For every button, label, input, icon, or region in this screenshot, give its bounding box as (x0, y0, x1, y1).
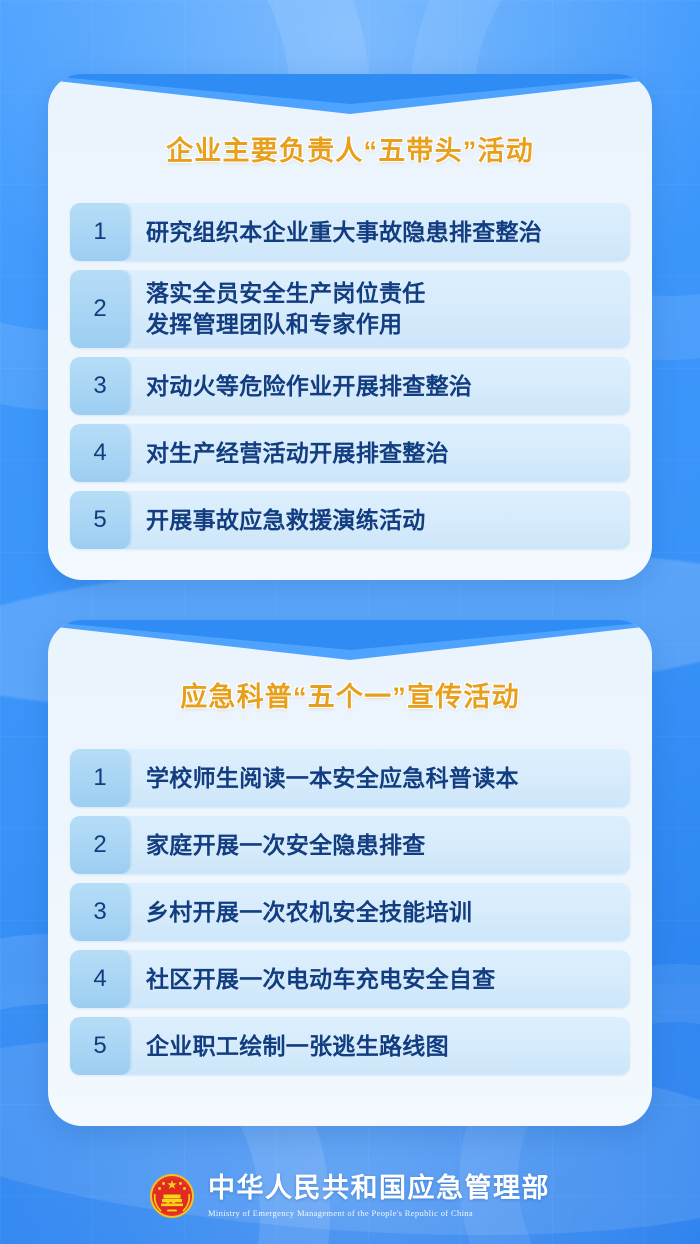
item-text: 乡村开展一次农机安全技能培训 (130, 883, 630, 941)
footer-branding: 中华人民共和国应急管理部 Ministry of Emergency Manag… (0, 1174, 700, 1218)
item-number: 1 (70, 203, 130, 261)
item-text: 企业职工绘制一张逃生路线图 (130, 1017, 630, 1075)
item-text-line: 学校师生阅读一本安全应急科普读本 (146, 763, 620, 793)
list-item[interactable]: 1 研究组织本企业重大事故隐患排查整治 (70, 203, 630, 261)
item-text-line: 开展事故应急救援演练活动 (146, 505, 620, 535)
item-text: 研究组织本企业重大事故隐患排查整治 (130, 203, 630, 261)
item-text-line: 落实全员安全生产岗位责任 (146, 278, 620, 308)
item-number: 5 (70, 491, 130, 549)
organization-name-cn: 中华人民共和国应急管理部 (208, 1174, 550, 1204)
list-item[interactable]: 3 对动火等危险作业开展排查整治 (70, 357, 630, 415)
card-title: 应急科普“五个一”宣传活动 (48, 642, 652, 724)
list-item[interactable]: 2 落实全员安全生产岗位责任 发挥管理团队和专家作用 (70, 270, 630, 348)
item-text-line: 企业职工绘制一张逃生路线图 (146, 1031, 620, 1061)
list-item[interactable]: 2 家庭开展一次安全隐患排查 (70, 816, 630, 874)
item-text: 家庭开展一次安全隐患排查 (130, 816, 630, 874)
activity-list: 1 研究组织本企业重大事故隐患排查整治 2 落实全员安全生产岗位责任 发挥管理团… (48, 201, 652, 549)
list-item[interactable]: 4 对生产经营活动开展排查整治 (70, 424, 630, 482)
item-text: 学校师生阅读一本安全应急科普读本 (130, 749, 630, 807)
item-text-line: 对生产经营活动开展排查整治 (146, 438, 620, 468)
poster-root: 企业主要负责人“五带头”活动 1 研究组织本企业重大事故隐患排查整治 2 落实全… (0, 0, 700, 1244)
footer-text-group: 中华人民共和国应急管理部 Ministry of Emergency Manag… (208, 1174, 550, 1218)
organization-name-en: Ministry of Emergency Management of the … (208, 1208, 550, 1218)
item-text-line: 家庭开展一次安全隐患排查 (146, 830, 620, 860)
item-number: 4 (70, 950, 130, 1008)
card-title: 企业主要负责人“五带头”活动 (48, 96, 652, 178)
item-number: 4 (70, 424, 130, 482)
activity-card-emergency-science: 应急科普“五个一”宣传活动 1 学校师生阅读一本安全应急科普读本 2 家庭开展一… (48, 620, 652, 1126)
item-text-line: 社区开展一次电动车充电安全自查 (146, 964, 620, 994)
item-text: 对生产经营活动开展排查整治 (130, 424, 630, 482)
item-number: 3 (70, 883, 130, 941)
item-text-line: 研究组织本企业重大事故隐患排查整治 (146, 217, 620, 247)
china-national-emblem-icon (150, 1174, 194, 1218)
list-item[interactable]: 5 企业职工绘制一张逃生路线图 (70, 1017, 630, 1075)
list-item[interactable]: 5 开展事故应急救援演练活动 (70, 491, 630, 549)
item-text: 社区开展一次电动车充电安全自查 (130, 950, 630, 1008)
item-text-line: 发挥管理团队和专家作用 (146, 309, 620, 339)
item-text: 开展事故应急救援演练活动 (130, 491, 630, 549)
item-number: 1 (70, 749, 130, 807)
item-number: 2 (70, 816, 130, 874)
item-text-line: 乡村开展一次农机安全技能培训 (146, 897, 620, 927)
item-number: 5 (70, 1017, 130, 1075)
list-item[interactable]: 3 乡村开展一次农机安全技能培训 (70, 883, 630, 941)
item-text-line: 对动火等危险作业开展排查整治 (146, 371, 620, 401)
activity-card-enterprise-leaders: 企业主要负责人“五带头”活动 1 研究组织本企业重大事故隐患排查整治 2 落实全… (48, 74, 652, 580)
item-text: 落实全员安全生产岗位责任 发挥管理团队和专家作用 (130, 270, 630, 348)
item-text: 对动火等危险作业开展排查整治 (130, 357, 630, 415)
list-item[interactable]: 1 学校师生阅读一本安全应急科普读本 (70, 749, 630, 807)
activity-list: 1 学校师生阅读一本安全应急科普读本 2 家庭开展一次安全隐患排查 3 乡村开展… (48, 747, 652, 1075)
list-item[interactable]: 4 社区开展一次电动车充电安全自查 (70, 950, 630, 1008)
item-number: 2 (70, 270, 130, 348)
item-number: 3 (70, 357, 130, 415)
